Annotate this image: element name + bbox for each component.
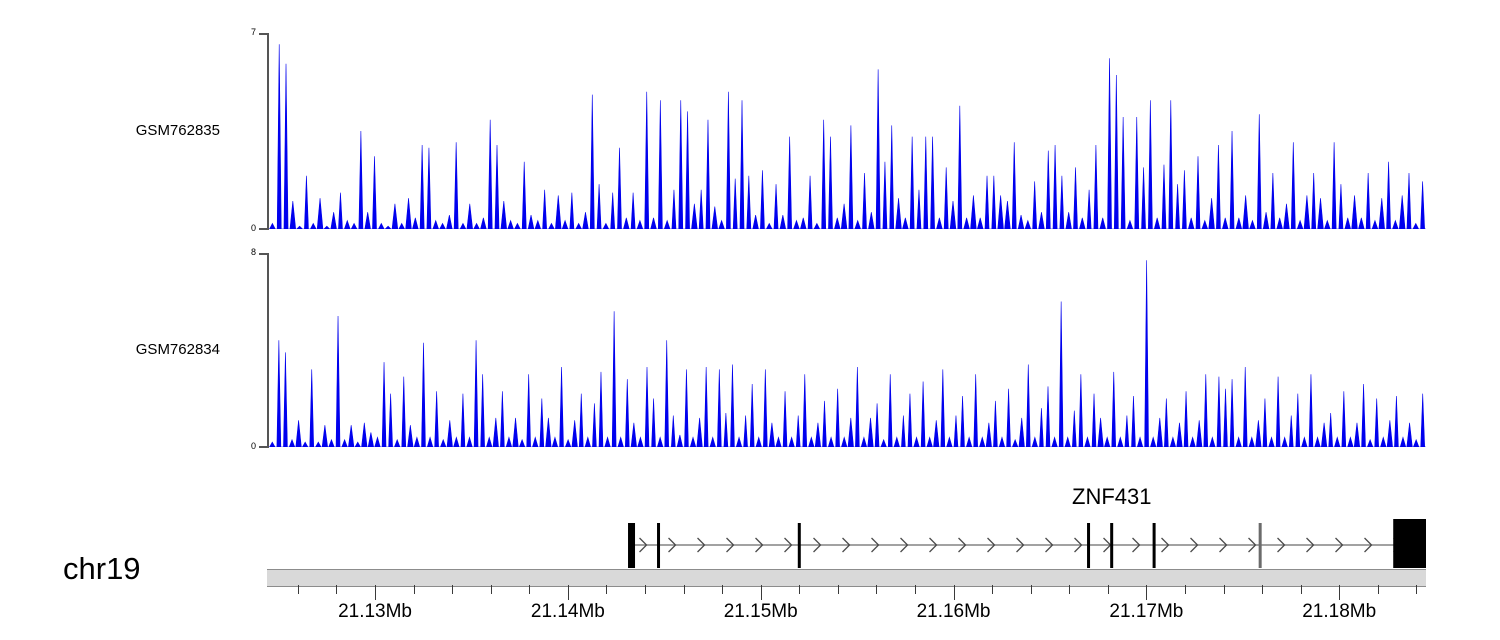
signal-track-gsm762834 <box>269 253 1426 447</box>
axis-major-tick <box>375 585 376 600</box>
axis-minor-tick <box>1224 585 1225 594</box>
track-label-text: GSM762835 <box>136 122 220 139</box>
axis-minor-tick <box>1069 585 1070 594</box>
axis-major-tick <box>954 585 955 600</box>
axis-minor-tick <box>1262 585 1263 594</box>
axis-minor-tick <box>645 585 646 594</box>
axis-minor-tick <box>799 585 800 594</box>
axis-tick-label: 21.16Mb <box>894 601 1014 623</box>
exon-block <box>1153 523 1156 568</box>
track-label-text: GSM762834 <box>136 341 220 358</box>
axis-minor-tick <box>414 585 415 594</box>
axis-minor-tick <box>915 585 916 594</box>
axis-minor-tick <box>491 585 492 594</box>
track2-ytick-max <box>259 253 268 255</box>
track2-ymax-label: 8 <box>228 248 256 257</box>
axis-major-tick <box>568 585 569 600</box>
axis-minor-tick <box>298 585 299 594</box>
signal-track-gsm762835 <box>269 33 1426 229</box>
track1-ymax-label: 7 <box>228 28 256 37</box>
exon-block <box>798 523 801 568</box>
track-label-gsm762835: GSM762835 <box>50 122 220 139</box>
axis-minor-tick <box>1185 585 1186 594</box>
axis-minor-tick <box>529 585 530 594</box>
axis-minor-tick <box>838 585 839 594</box>
track2-ytick-min <box>259 446 268 448</box>
axis-minor-tick <box>684 585 685 594</box>
gene-annotation-track[interactable] <box>269 506 1426 568</box>
axis-major-tick <box>761 585 762 600</box>
axis-minor-tick <box>1416 585 1417 594</box>
axis-tick-label: 21.15Mb <box>701 601 821 623</box>
axis-tick-label: 21.17Mb <box>1086 601 1206 623</box>
axis-minor-tick <box>992 585 993 594</box>
track1-ytick-max <box>259 33 268 35</box>
axis-minor-tick <box>1378 585 1379 594</box>
gene-model <box>269 506 1426 568</box>
axis-minor-tick <box>336 585 337 594</box>
track-label-gsm762834: GSM762834 <box>50 341 220 358</box>
axis-minor-tick <box>876 585 877 594</box>
exon-block <box>1259 523 1262 568</box>
axis-major-tick <box>1339 585 1340 600</box>
track1-ytick-min <box>259 228 268 230</box>
genome-browser-view: GSM762835 7 0 GSM762834 8 0 ZNF431 chr19… <box>0 0 1500 640</box>
terminal-exon-block <box>1393 519 1426 568</box>
axis-major-tick <box>1146 585 1147 600</box>
signal-plot-area <box>269 33 1426 229</box>
signal-area <box>269 260 1426 447</box>
exon-block <box>657 523 660 568</box>
chromosome-label: chr19 <box>63 551 141 587</box>
axis-minor-tick <box>1301 585 1302 594</box>
axis-tick-label: 21.13Mb <box>315 601 435 623</box>
axis-minor-tick <box>606 585 607 594</box>
ideogram-bar <box>267 569 1426 587</box>
signal-area <box>269 44 1426 229</box>
axis-minor-tick <box>1108 585 1109 594</box>
axis-tick-label: 21.18Mb <box>1279 601 1399 623</box>
signal-plot-area <box>269 253 1426 447</box>
axis-minor-tick <box>452 585 453 594</box>
exon-block <box>1087 523 1090 568</box>
exon-block <box>1110 523 1113 568</box>
axis-minor-tick <box>722 585 723 594</box>
exon-block <box>628 523 635 568</box>
track1-ymin-label: 0 <box>228 224 256 233</box>
axis-minor-tick <box>1031 585 1032 594</box>
axis-tick-label: 21.14Mb <box>508 601 628 623</box>
track2-ymin-label: 0 <box>228 442 256 451</box>
